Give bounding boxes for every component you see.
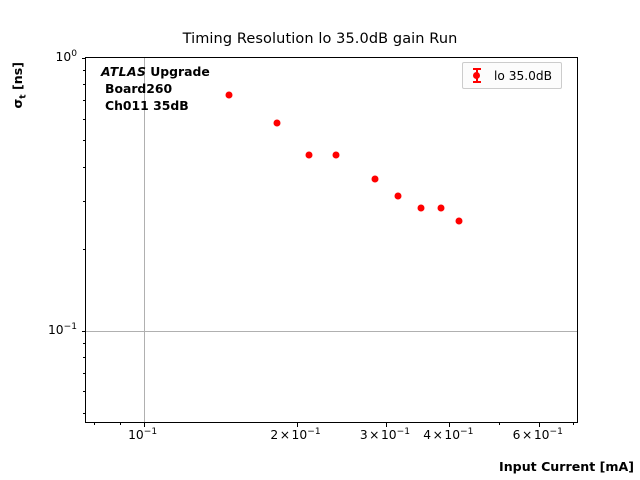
y-tick-minor	[83, 140, 86, 141]
channel-label: Ch011 35dB	[101, 98, 210, 115]
y-tick-minor	[83, 357, 86, 358]
x-tick-label: 6×10−1	[513, 429, 563, 441]
y-tick-major	[82, 58, 87, 59]
y-tick-label: 100	[56, 51, 77, 63]
x-tick-minor	[573, 422, 574, 425]
legend[interactable]: lo 35.0dB	[462, 62, 562, 89]
data-point	[437, 204, 444, 211]
y-tick-minor	[83, 413, 86, 414]
y-tick-minor	[83, 119, 86, 120]
data-point	[372, 176, 379, 183]
x-tick-major	[297, 422, 298, 427]
y-tick-minor	[83, 249, 86, 250]
y-tick-minor	[83, 167, 86, 168]
y-axis-label: σt [ns]	[10, 62, 25, 109]
y-tick-minor	[83, 391, 86, 392]
data-point	[395, 192, 402, 199]
x-tick-minor	[94, 422, 95, 425]
x-tick-major	[539, 422, 540, 427]
data-point	[418, 205, 425, 212]
y-tick-minor	[83, 70, 86, 71]
y-tick-minor	[83, 373, 86, 374]
atlas-annotation: ATLAS Upgrade Board260 Ch011 35dB	[101, 64, 210, 115]
data-point	[225, 92, 232, 99]
y-tick-minor	[83, 84, 86, 85]
x-tick-label: 10−1	[128, 429, 157, 441]
legend-errorbar-marker-icon	[469, 67, 485, 84]
y-tick-minor	[83, 343, 86, 344]
x-tick-minor	[499, 422, 500, 425]
y-tick-minor	[83, 100, 86, 101]
data-point	[332, 152, 339, 159]
x-axis-label: Input Current [mA]	[499, 459, 634, 474]
board-label: Board260	[101, 81, 210, 98]
gridline-horizontal	[86, 331, 577, 332]
x-tick-major	[386, 422, 387, 427]
y-tick-label: 10−1	[48, 324, 77, 336]
chart-figure: Timing Resolution lo 35.0dB gain Run Inp…	[0, 0, 640, 480]
legend-entry-label: lo 35.0dB	[494, 69, 552, 83]
x-tick-major	[144, 422, 145, 427]
y-tick-minor	[83, 201, 86, 202]
data-point	[306, 152, 313, 159]
data-point	[273, 119, 280, 126]
upgrade-label: Upgrade	[150, 64, 210, 79]
data-point	[456, 217, 463, 224]
x-tick-major	[449, 422, 450, 427]
x-tick-label: 2×10−1	[270, 429, 320, 441]
atlas-label: ATLAS	[101, 64, 146, 79]
x-tick-label: 4×10−1	[423, 429, 473, 441]
x-tick-minor	[120, 422, 121, 425]
chart-title: Timing Resolution lo 35.0dB gain Run	[0, 31, 640, 47]
x-tick-label: 3×10−1	[360, 429, 410, 441]
